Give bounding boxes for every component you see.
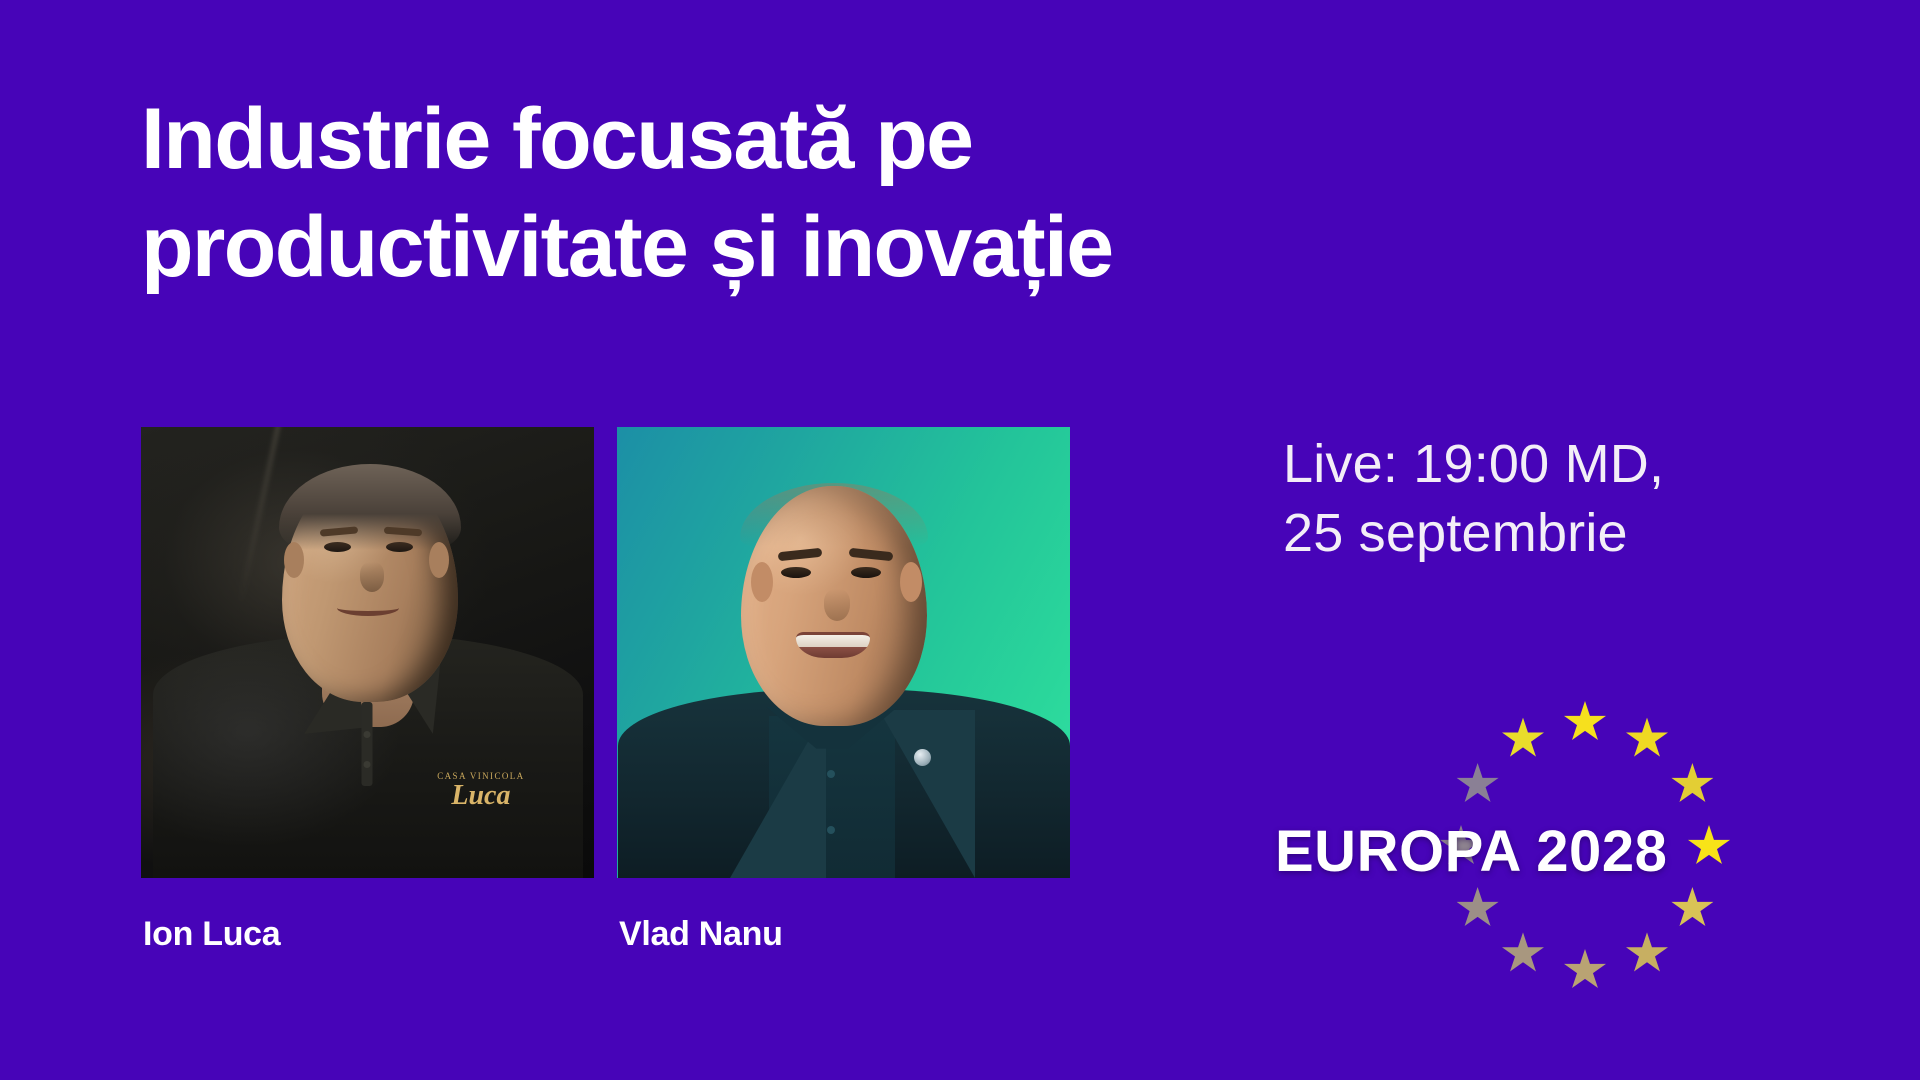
speaker-photo-ion-luca: CASA VINICOLA Luca [141,427,594,878]
shirt-button-2 [827,826,835,834]
eu-star-icon [1671,763,1713,805]
ear-right [900,562,922,602]
ear-right [429,542,449,578]
shirt-logo-line-2: Luca [431,782,531,810]
eye-left [781,567,811,578]
page-title: Industrie focusată pe productivitate și … [141,86,1561,301]
suit-lapel-right [879,710,975,878]
eu-star-icon [1688,825,1730,867]
eu-star-icon [1626,718,1668,760]
nose [824,589,850,621]
eu-star-icon [1564,949,1606,991]
eu-star-icon [1626,932,1668,974]
shirt-button-1 [827,770,835,778]
live-schedule: Live: 19:00 MD, 25 septembrie [1283,430,1843,567]
eye-right [851,567,881,578]
eu-star-icon [1502,932,1544,974]
polo-button-2 [363,761,370,768]
speaker-photo-vlad-nanu [617,427,1070,878]
eu-star-icon [1457,763,1499,805]
headline-line-2: productivitate și inovație [141,194,1561,302]
live-date-line: 25 septembrie [1283,499,1843,568]
europa-2028-logo: EUROPA 2028 [1275,690,1835,1010]
ear-left [284,542,304,578]
polo-placket [361,702,372,786]
shirt-brand-logo: CASA VINICOLA Luca [431,772,531,810]
europa-2028-label: EUROPA 2028 [1275,818,1667,885]
eu-star-icon [1457,887,1499,929]
eu-star-icon [1564,701,1606,743]
eu-star-icon [1671,887,1713,929]
polo-button-1 [363,731,370,738]
headline-line-1: Industrie focusată pe [141,86,1561,194]
live-time-line: Live: 19:00 MD, [1283,430,1843,499]
mouth [337,600,399,616]
eu-star-icon [1502,718,1544,760]
speaker-name-vlad-nanu: Vlad Nanu [619,915,783,954]
speaker-name-ion-luca: Ion Luca [143,915,280,954]
